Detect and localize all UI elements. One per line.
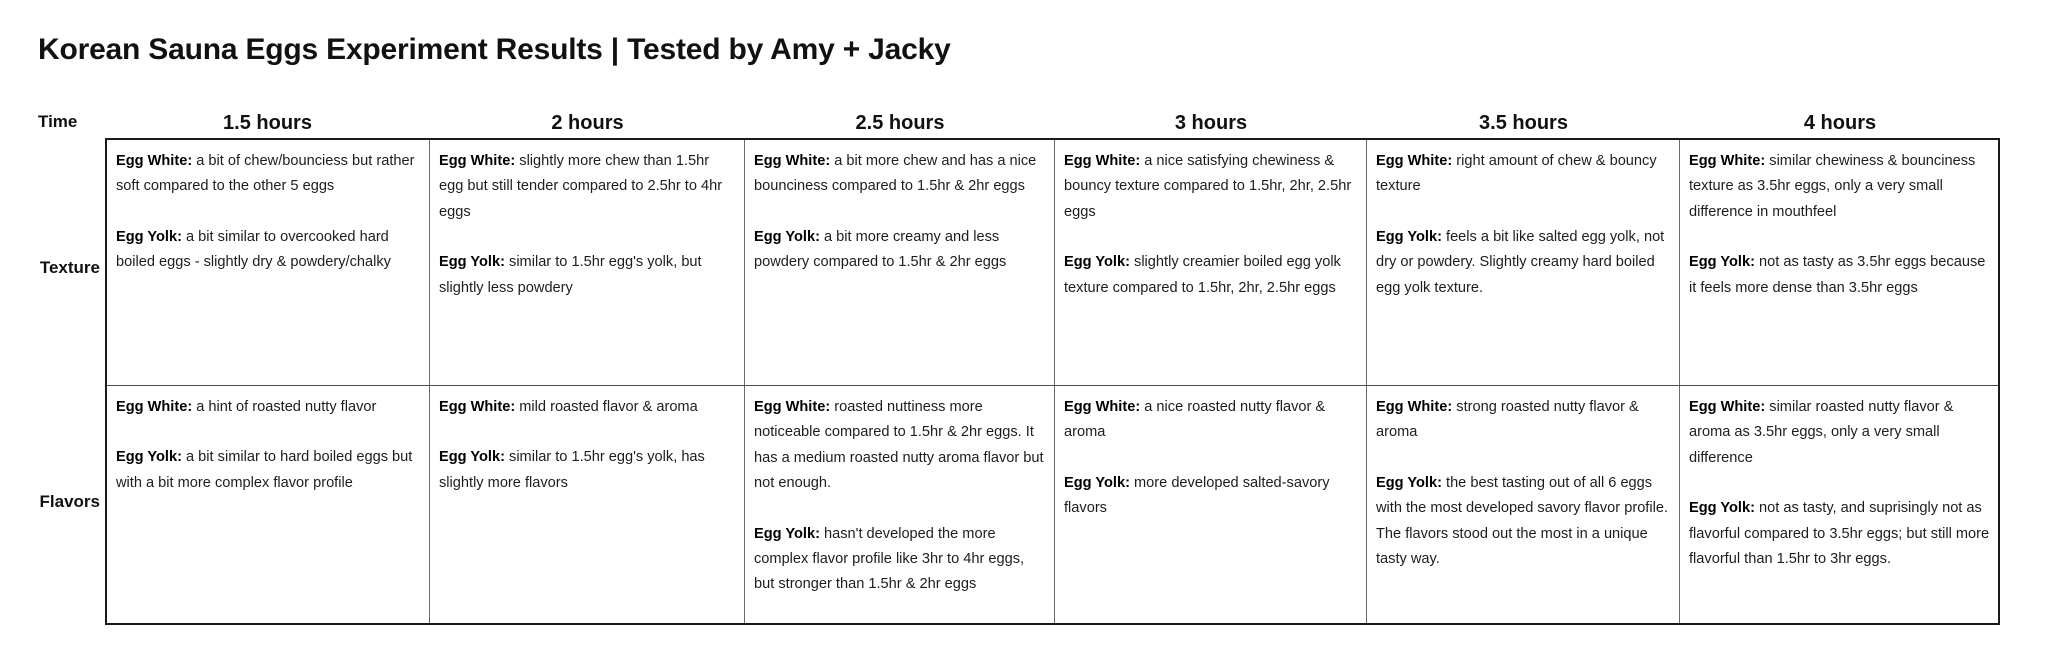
egg-yolk-label: Egg Yolk:	[1376, 475, 1442, 491]
egg-yolk-label: Egg Yolk:	[1689, 254, 1755, 270]
egg-yolk-label: Egg Yolk:	[1064, 254, 1130, 270]
table-header-row: Time 1.5 hours 2 hours 2.5 hours 3 hours…	[0, 112, 2000, 138]
egg-white-entry: Egg White: roasted nuttiness more notice…	[754, 395, 1047, 497]
egg-yolk-entry: Egg Yolk: similar to 1.5hr egg's yolk, h…	[439, 445, 737, 496]
table-row-texture: Egg White: a bit of chew/bounciess but r…	[107, 140, 1998, 386]
egg-white-entry: Egg White: a nice roasted nutty flavor &…	[1064, 395, 1359, 446]
egg-yolk-entry: Egg Yolk: a bit similar to overcooked ha…	[116, 225, 422, 276]
cell-flavors-3-hours: Egg White: a nice roasted nutty flavor &…	[1055, 386, 1367, 623]
egg-yolk-entry: Egg Yolk: slightly creamier boiled egg y…	[1064, 250, 1359, 301]
egg-yolk-entry: Egg Yolk: not as tasty as 3.5hr eggs bec…	[1689, 250, 1991, 301]
egg-white-label: Egg White:	[1064, 399, 1140, 415]
egg-white-entry: Egg White: strong roasted nutty flavor &…	[1376, 395, 1672, 446]
egg-yolk-entry: Egg Yolk: more developed salted-savory f…	[1064, 471, 1359, 522]
egg-yolk-entry: Egg Yolk: similar to 1.5hr egg's yolk, b…	[439, 250, 737, 301]
column-header-1: 1.5 hours	[105, 112, 430, 135]
egg-white-label: Egg White:	[1689, 399, 1765, 415]
cell-flavors-2-5-hours: Egg White: roasted nuttiness more notice…	[745, 386, 1055, 623]
egg-yolk-label: Egg Yolk:	[754, 526, 820, 542]
table-row-flavors: Egg White: a hint of roasted nutty flavo…	[107, 386, 1998, 623]
row-label-texture: Texture	[20, 258, 100, 278]
column-header-5: 3.5 hours	[1367, 112, 1680, 135]
column-header-4: 3 hours	[1055, 112, 1367, 135]
egg-white-label: Egg White:	[1064, 153, 1140, 169]
egg-white-text: mild roasted flavor & aroma	[519, 399, 697, 415]
egg-yolk-label: Egg Yolk:	[439, 254, 505, 270]
document-page: Korean Sauna Eggs Experiment Results | T…	[0, 0, 2048, 667]
egg-yolk-entry: Egg Yolk: hasn't developed the more comp…	[754, 522, 1047, 598]
cell-flavors-4-hours: Egg White: similar roasted nutty flavor …	[1680, 386, 1998, 623]
egg-white-label: Egg White:	[1376, 153, 1452, 169]
egg-yolk-entry: Egg Yolk: a bit similar to hard boiled e…	[116, 445, 422, 496]
page-title: Korean Sauna Eggs Experiment Results | T…	[38, 33, 951, 67]
cell-flavors-3-5-hours: Egg White: strong roasted nutty flavor &…	[1367, 386, 1680, 623]
egg-white-label: Egg White:	[754, 153, 830, 169]
cell-texture-4-hours: Egg White: similar chewiness & bouncines…	[1680, 140, 1998, 385]
egg-yolk-entry: Egg Yolk: the best tasting out of all 6 …	[1376, 471, 1672, 573]
egg-white-text: a hint of roasted nutty flavor	[196, 399, 376, 415]
cell-flavors-1-5-hours: Egg White: a hint of roasted nutty flavo…	[107, 386, 430, 623]
egg-white-label: Egg White:	[439, 153, 515, 169]
time-axis-label: Time	[38, 112, 98, 132]
egg-yolk-label: Egg Yolk:	[1376, 229, 1442, 245]
cell-texture-3-5-hours: Egg White: right amount of chew & bouncy…	[1367, 140, 1680, 385]
egg-white-label: Egg White:	[1376, 399, 1452, 415]
egg-white-entry: Egg White: a hint of roasted nutty flavo…	[116, 395, 422, 420]
egg-white-entry: Egg White: a nice satisfying chewiness &…	[1064, 149, 1359, 225]
column-header-6: 4 hours	[1680, 112, 2000, 135]
egg-yolk-label: Egg Yolk:	[1064, 475, 1130, 491]
results-table: Egg White: a bit of chew/bounciess but r…	[105, 138, 2000, 625]
cell-texture-2-hours: Egg White: slightly more chew than 1.5hr…	[430, 140, 745, 385]
cell-texture-2-5-hours: Egg White: a bit more chew and has a nic…	[745, 140, 1055, 385]
egg-white-entry: Egg White: similar chewiness & bouncines…	[1689, 149, 1991, 225]
egg-white-label: Egg White:	[439, 399, 515, 415]
egg-white-label: Egg White:	[116, 399, 192, 415]
column-header-3: 2.5 hours	[745, 112, 1055, 135]
egg-yolk-label: Egg Yolk:	[116, 449, 182, 465]
cell-texture-3-hours: Egg White: a nice satisfying chewiness &…	[1055, 140, 1367, 385]
column-header-2: 2 hours	[430, 112, 745, 135]
egg-yolk-entry: Egg Yolk: not as tasty, and suprisingly …	[1689, 496, 1991, 572]
egg-yolk-entry: Egg Yolk: a bit more creamy and less pow…	[754, 225, 1047, 276]
egg-white-entry: Egg White: a bit of chew/bounciess but r…	[116, 149, 422, 200]
egg-yolk-label: Egg Yolk:	[1689, 500, 1755, 516]
row-label-flavors: Flavors	[20, 492, 100, 512]
cell-texture-1-5-hours: Egg White: a bit of chew/bounciess but r…	[107, 140, 430, 385]
egg-yolk-label: Egg Yolk:	[439, 449, 505, 465]
egg-white-entry: Egg White: mild roasted flavor & aroma	[439, 395, 737, 420]
egg-white-label: Egg White:	[754, 399, 830, 415]
cell-flavors-2-hours: Egg White: mild roasted flavor & aroma E…	[430, 386, 745, 623]
egg-yolk-label: Egg Yolk:	[116, 229, 182, 245]
egg-white-entry: Egg White: slightly more chew than 1.5hr…	[439, 149, 737, 225]
egg-white-label: Egg White:	[116, 153, 192, 169]
egg-white-label: Egg White:	[1689, 153, 1765, 169]
egg-white-entry: Egg White: similar roasted nutty flavor …	[1689, 395, 1991, 471]
egg-yolk-entry: Egg Yolk: feels a bit like salted egg yo…	[1376, 225, 1672, 301]
egg-yolk-label: Egg Yolk:	[754, 229, 820, 245]
egg-white-entry: Egg White: a bit more chew and has a nic…	[754, 149, 1047, 200]
egg-white-entry: Egg White: right amount of chew & bouncy…	[1376, 149, 1672, 200]
